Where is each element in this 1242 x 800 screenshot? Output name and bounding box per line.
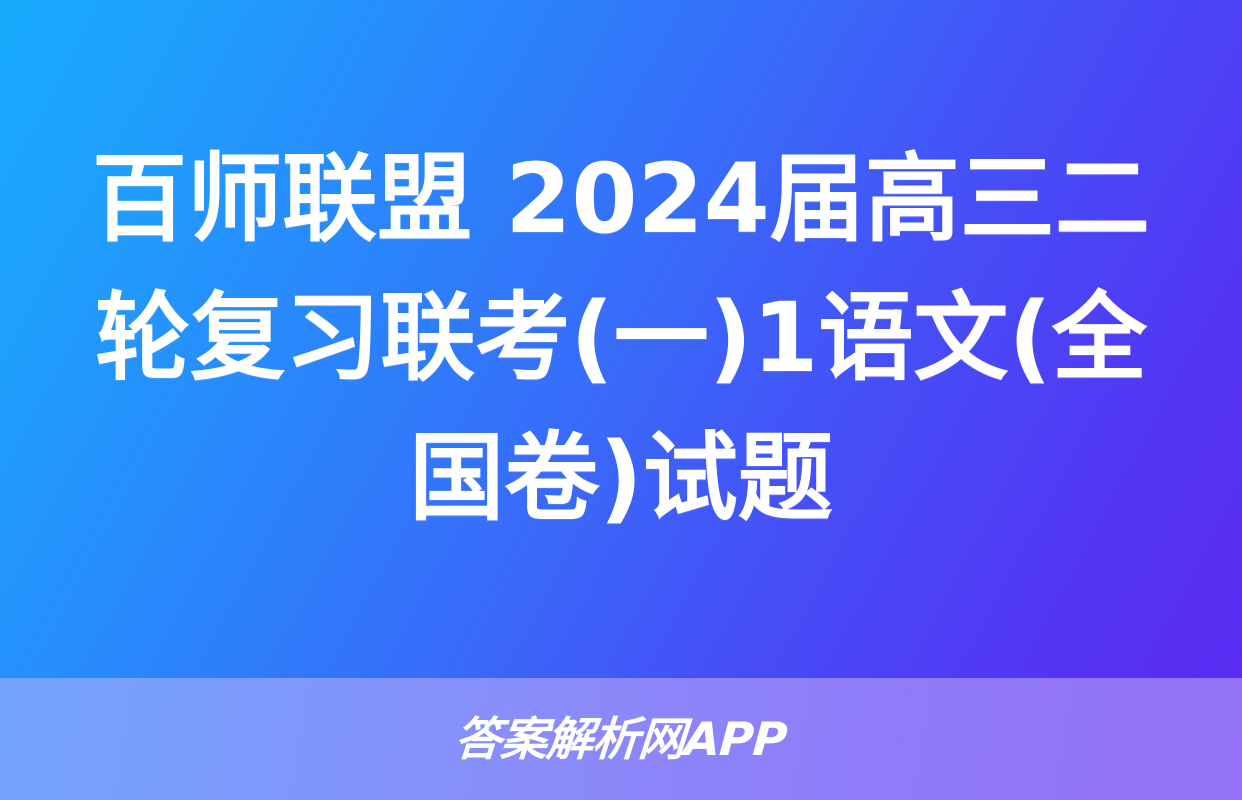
- page-title: 百师联盟 2024届高三二轮复习联考(一)1语文(全国卷)试题: [81, 130, 1160, 548]
- app-watermark-label: 答案解析网APP: [454, 716, 789, 762]
- title-area: 百师联盟 2024届高三二轮复习联考(一)1语文(全国卷)试题: [0, 0, 1242, 678]
- poster-card: 百师联盟 2024届高三二轮复习联考(一)1语文(全国卷)试题 答案解析网APP: [0, 0, 1242, 800]
- watermark-bar: 答案解析网APP: [0, 678, 1242, 800]
